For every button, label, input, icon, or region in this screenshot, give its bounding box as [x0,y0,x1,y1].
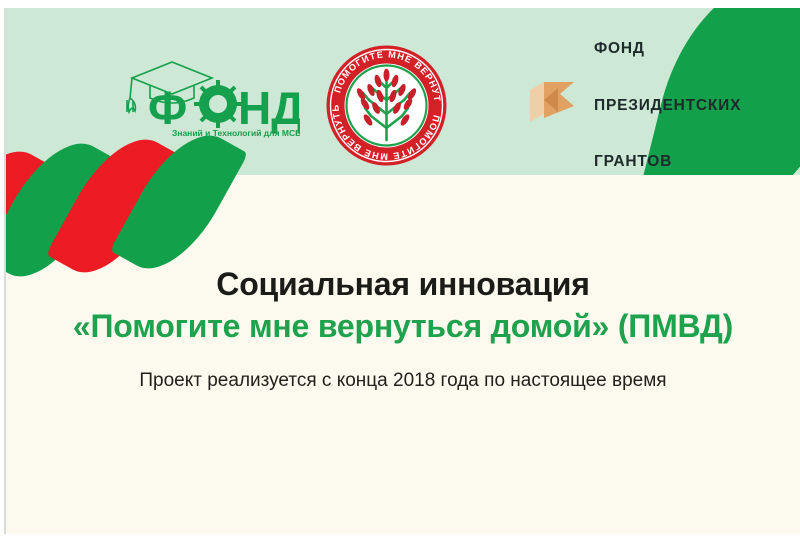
slide-title-line-1: Социальная инновация [6,266,800,304]
pgf-line-3: ГРАНТОВ [594,153,741,172]
pgf-line-2: ПРЕЗИДЕНТСКИХ [594,97,741,116]
presidential-grants-fund-logo: ФОНД ПРЕЗИДЕНТСКИХ ГРАНТОВ [528,66,728,146]
flag-ribbon-icon [528,78,580,134]
edge-rule-left [4,8,6,534]
presidential-grants-fund-text: ФОНД ПРЕЗИДЕНТСКИХ ГРАНТОВ [594,8,741,175]
presentation-slide: Ф [0,0,800,549]
svg-text:НД: НД [238,82,300,134]
title-block: Социальная инновация «Помогите мне верну… [6,266,800,392]
pgf-line-1: ФОНД [594,40,741,59]
slide-title-line-2: «Помогите мне вернуться домой» (ПМВД) [6,308,800,346]
slide-subtitle: Проект реализуется с конца 2018 года по … [6,370,800,393]
edge-strip-top [0,0,800,8]
edge-strip-bottom [0,534,800,549]
fond-logo: Ф [120,54,300,138]
footer-artifact [654,526,784,534]
pmvd-emblem: ПОМОГИТЕ МНЕ ВЕРНУТЬСЯ ДОМОЙ • ПОМОГИТЕ … [325,44,448,167]
svg-text:Ф: Ф [148,82,187,134]
slide-canvas: Ф [6,8,800,534]
leaf-decoration-row-left [6,136,266,276]
